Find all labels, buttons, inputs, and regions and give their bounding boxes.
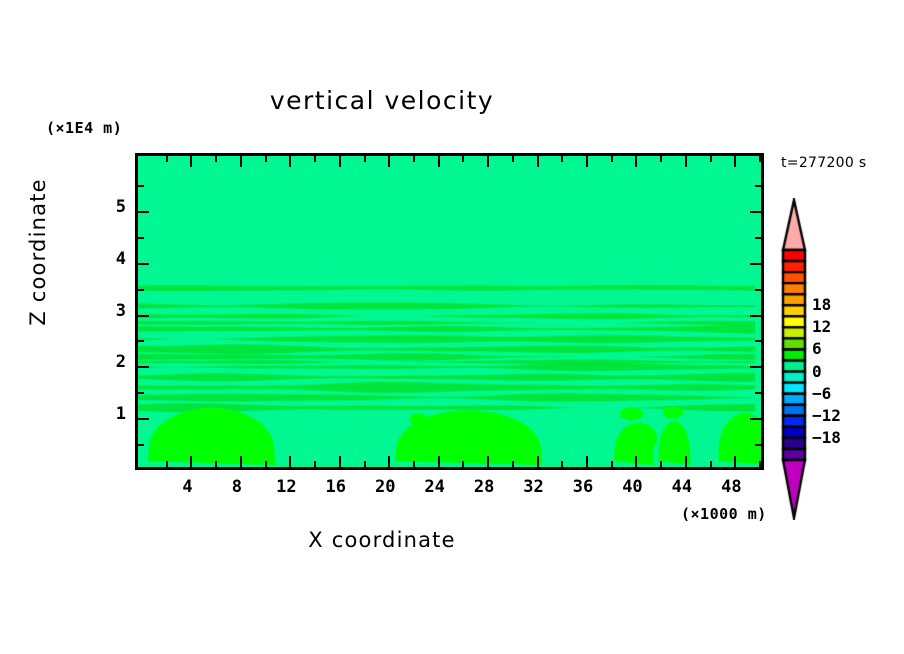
x-tick-minor	[314, 461, 316, 467]
x-tick-minor	[561, 461, 563, 467]
x-tick-top-minor	[660, 156, 662, 162]
colorbar	[778, 198, 810, 520]
x-tick-label: 8	[217, 477, 257, 497]
x-tick-top-minor	[611, 156, 613, 162]
x-tick-minor	[660, 461, 662, 467]
y-tick-label: 4	[104, 249, 126, 269]
colorbar-tick-label: 18	[812, 295, 831, 314]
x-tick-minor	[710, 461, 712, 467]
y-tick-right-minor	[755, 392, 761, 394]
x-tick-label: 40	[612, 477, 652, 497]
x-tick-top-minor	[710, 156, 712, 162]
x-tick-minor	[413, 461, 415, 467]
x-tick-label: 24	[415, 477, 455, 497]
x-tick-top-major	[635, 156, 637, 167]
x-tick-label: 32	[514, 477, 554, 497]
y-tick-minor	[138, 444, 144, 446]
y-tick-right-minor	[755, 289, 761, 291]
x-tick-major	[190, 456, 192, 467]
x-tick-top-minor	[265, 156, 267, 162]
x-tick-top-minor	[413, 156, 415, 162]
y-tick-minor	[138, 392, 144, 394]
y-tick-major	[138, 263, 149, 265]
x-tick-major	[586, 456, 588, 467]
y-tick-right-minor	[755, 237, 761, 239]
x-tick-top-minor	[462, 156, 464, 162]
y-tick-right-major	[750, 418, 761, 420]
time-annotation: t=277200 s	[781, 155, 866, 171]
x-tick-top-major	[190, 156, 192, 167]
y-tick-label: 1	[104, 404, 126, 424]
x-tick-label: 12	[266, 477, 306, 497]
page-title: vertical velocity	[0, 86, 764, 115]
y-tick-minor	[138, 340, 144, 342]
y-tick-minor	[138, 237, 144, 239]
x-tick-top-major	[240, 156, 242, 167]
x-tick-minor	[611, 461, 613, 467]
x-tick-top-minor	[364, 156, 366, 162]
y-tick-right-minor	[755, 185, 761, 187]
y-tick-right-minor	[755, 340, 761, 342]
y-tick-right-major	[750, 315, 761, 317]
x-tick-minor	[364, 461, 366, 467]
y-tick-major	[138, 418, 149, 420]
x-tick-top-minor	[561, 156, 563, 162]
y-axis-title: Z coordinate	[26, 162, 50, 342]
x-tick-top-major	[339, 156, 341, 167]
x-tick-top-major	[685, 156, 687, 167]
y-tick-right-major	[750, 211, 761, 213]
x-tick-label: 36	[563, 477, 603, 497]
x-tick-top-minor	[759, 156, 761, 162]
x-tick-major	[339, 456, 341, 467]
x-tick-top-major	[537, 156, 539, 167]
colorbar-tick-labels: 181260−6−12−18	[812, 198, 882, 520]
x-tick-minor	[166, 461, 168, 467]
x-tick-minor	[265, 461, 267, 467]
y-axis-unit-label: (×1E4 m)	[46, 119, 122, 137]
y-tick-minor	[138, 289, 144, 291]
x-tick-major	[734, 456, 736, 467]
y-tick-right-minor	[755, 444, 761, 446]
y-tick-right-major	[750, 366, 761, 368]
y-tick-major	[138, 315, 149, 317]
y-tick-label: 2	[104, 352, 126, 372]
x-tick-minor	[512, 461, 514, 467]
colorbar-tick-label: −6	[812, 384, 831, 403]
x-tick-top-major	[289, 156, 291, 167]
x-tick-label: 4	[167, 477, 207, 497]
x-tick-label: 28	[464, 477, 504, 497]
x-axis-title: X coordinate	[0, 528, 764, 552]
x-tick-minor	[215, 461, 217, 467]
x-tick-label: 48	[711, 477, 751, 497]
y-tick-major	[138, 211, 149, 213]
x-tick-top-major	[586, 156, 588, 167]
x-tick-major	[289, 456, 291, 467]
x-axis-unit-label: (×1000 m)	[681, 505, 767, 523]
x-tick-minor	[462, 461, 464, 467]
y-tick-label: 3	[104, 301, 126, 321]
x-tick-top-major	[438, 156, 440, 167]
x-tick-top-minor	[512, 156, 514, 162]
x-tick-label: 44	[662, 477, 702, 497]
x-tick-top-major	[487, 156, 489, 167]
y-tick-major	[138, 366, 149, 368]
x-tick-top-major	[734, 156, 736, 167]
x-tick-minor	[759, 461, 761, 467]
x-tick-major	[537, 456, 539, 467]
x-tick-top-major	[388, 156, 390, 167]
x-tick-top-minor	[314, 156, 316, 162]
vertical-velocity-field	[138, 156, 761, 467]
x-tick-major	[388, 456, 390, 467]
x-tick-major	[685, 456, 687, 467]
colorbar-tick-label: 6	[812, 339, 822, 358]
y-tick-minor	[138, 185, 144, 187]
colorbar-tick-label: −12	[812, 406, 841, 425]
x-tick-top-minor	[215, 156, 217, 162]
x-tick-major	[635, 456, 637, 467]
y-tick-label: 5	[104, 197, 126, 217]
x-tick-top-minor	[166, 156, 168, 162]
contour-plot-area	[135, 153, 764, 470]
x-tick-major	[240, 456, 242, 467]
x-tick-major	[487, 456, 489, 467]
x-tick-label: 20	[365, 477, 405, 497]
x-tick-label: 16	[316, 477, 356, 497]
colorbar-tick-label: 12	[812, 317, 831, 336]
colorbar-tick-label: −18	[812, 428, 841, 447]
x-tick-major	[438, 456, 440, 467]
colorbar-tick-label: 0	[812, 362, 822, 381]
y-tick-right-major	[750, 263, 761, 265]
